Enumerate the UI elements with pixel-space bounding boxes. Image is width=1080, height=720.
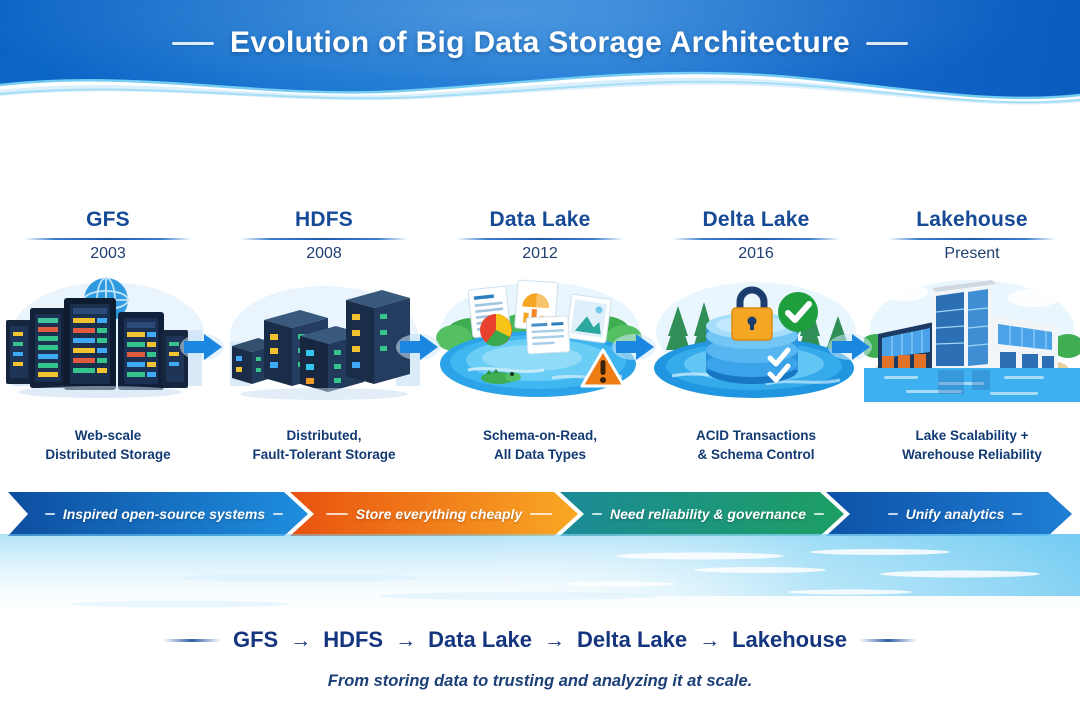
column-caption: Lake Scalability + Warehouse Reliability bbox=[870, 426, 1074, 464]
title-row: Evolution of Big Data Storage Architectu… bbox=[0, 18, 1080, 68]
caption-line-1: Distributed, bbox=[222, 426, 426, 445]
header-wave-divider bbox=[0, 64, 1080, 108]
caption-line-1: ACID Transactions bbox=[654, 426, 858, 445]
infographic-canvas: Evolution of Big Data Storage Architectu… bbox=[0, 0, 1080, 720]
column-caption: Schema-on-Read, All Data Types bbox=[438, 426, 642, 464]
caption-line-2: & Schema Control bbox=[654, 445, 858, 464]
footer-rule-right bbox=[859, 639, 917, 642]
column-year: 2016 bbox=[738, 245, 774, 263]
caption-line-1: Schema-on-Read, bbox=[438, 426, 642, 445]
footer-arrow-icon: → bbox=[395, 630, 416, 651]
flow-arrow-3 bbox=[612, 330, 658, 364]
column-year: 2008 bbox=[306, 245, 342, 263]
column-caption: Web-scale Distributed Storage bbox=[6, 426, 210, 464]
caption-line-2: Warehouse Reliability bbox=[870, 445, 1074, 464]
header-banner: Evolution of Big Data Storage Architectu… bbox=[0, 0, 1080, 108]
footer-arrow-icon: → bbox=[290, 630, 311, 651]
footer-rule-left bbox=[163, 639, 221, 642]
footer-chain-item-lakehouse: Lakehouse bbox=[732, 627, 847, 653]
chevron-ribbon-labels: Inspired open-source systems Store every… bbox=[8, 492, 1072, 536]
flow-arrow-4 bbox=[828, 330, 874, 364]
column-year: 2003 bbox=[90, 245, 126, 263]
ribbon-label: Unify analytics bbox=[906, 506, 1005, 522]
footer-arrow-icon: → bbox=[699, 630, 720, 651]
caption-line-2: All Data Types bbox=[438, 445, 642, 464]
page-title: Evolution of Big Data Storage Architectu… bbox=[230, 26, 850, 60]
ribbon-dash-right bbox=[814, 513, 824, 515]
ribbon-dash-right bbox=[273, 513, 283, 515]
column-title: Delta Lake bbox=[702, 208, 809, 232]
caption-line-1: Lake Scalability + bbox=[870, 426, 1074, 445]
column-divider bbox=[672, 238, 840, 240]
footer-chain-item-gfs: GFS bbox=[233, 627, 278, 653]
ribbon-label: Inspired open-source systems bbox=[63, 506, 265, 522]
ribbon-segment-2[interactable]: Store everything cheaply bbox=[308, 492, 570, 536]
ribbon-segment-1[interactable]: Inspired open-source systems bbox=[28, 492, 300, 536]
flow-arrow-2 bbox=[396, 330, 442, 364]
timeline-column-delta-lake[interactable]: Delta Lake 2016 bbox=[648, 120, 864, 490]
timeline-column-lakehouse[interactable]: Lakehouse Present bbox=[864, 120, 1080, 490]
column-year: Present bbox=[944, 245, 999, 263]
footer-chain-item-data-lake: Data Lake bbox=[428, 627, 532, 653]
footer-tagline: From storing data to trusting and analyz… bbox=[0, 672, 1080, 691]
ribbon-dash-right bbox=[1012, 513, 1022, 515]
caption-line-2: Distributed Storage bbox=[6, 445, 210, 464]
ribbon-segment-4[interactable]: Unify analytics bbox=[848, 492, 1062, 536]
column-caption: ACID Transactions & Schema Control bbox=[654, 426, 858, 464]
ribbon-dash-left bbox=[888, 513, 898, 515]
flow-arrow-1 bbox=[180, 330, 226, 364]
footer-chain-item-hdfs: HDFS bbox=[323, 627, 383, 653]
timeline-column-hdfs[interactable]: HDFS 2008 bbox=[216, 120, 432, 490]
caption-line-1: Web-scale bbox=[6, 426, 210, 445]
column-title: Lakehouse bbox=[916, 208, 1028, 232]
title-rule-left bbox=[172, 42, 214, 45]
title-rule-right bbox=[866, 42, 908, 45]
footer-chain: GFS → HDFS → Data Lake → Delta Lake → La… bbox=[0, 620, 1080, 660]
column-title: Data Lake bbox=[489, 208, 590, 232]
ribbon-label: Store everything cheaply bbox=[356, 506, 523, 522]
column-divider bbox=[24, 238, 192, 240]
column-title: HDFS bbox=[295, 208, 353, 232]
column-caption: Distributed, Fault-Tolerant Storage bbox=[222, 426, 426, 464]
timeline-columns: GFS 2003 bbox=[0, 120, 1080, 490]
column-divider bbox=[456, 238, 624, 240]
lakehouse-building-icon bbox=[864, 272, 1080, 402]
ribbon-dash-right bbox=[530, 513, 552, 515]
column-divider bbox=[888, 238, 1056, 240]
ribbon-dash-left bbox=[45, 513, 55, 515]
ribbon-label: Need reliability & governance bbox=[610, 506, 806, 522]
column-divider bbox=[240, 238, 408, 240]
column-year: 2012 bbox=[522, 245, 558, 263]
ribbon-segment-3[interactable]: Need reliability & governance bbox=[580, 492, 836, 536]
ribbon-dash-left bbox=[592, 513, 602, 515]
timeline-column-gfs[interactable]: GFS 2003 bbox=[0, 120, 216, 490]
timeline-column-data-lake[interactable]: Data Lake 2012 bbox=[432, 120, 648, 490]
column-title: GFS bbox=[86, 208, 130, 232]
ribbon-dash-left bbox=[326, 513, 348, 515]
caption-line-2: Fault-Tolerant Storage bbox=[222, 445, 426, 464]
footer-arrow-icon: → bbox=[544, 630, 565, 651]
footer-chain-item-delta-lake: Delta Lake bbox=[577, 627, 687, 653]
